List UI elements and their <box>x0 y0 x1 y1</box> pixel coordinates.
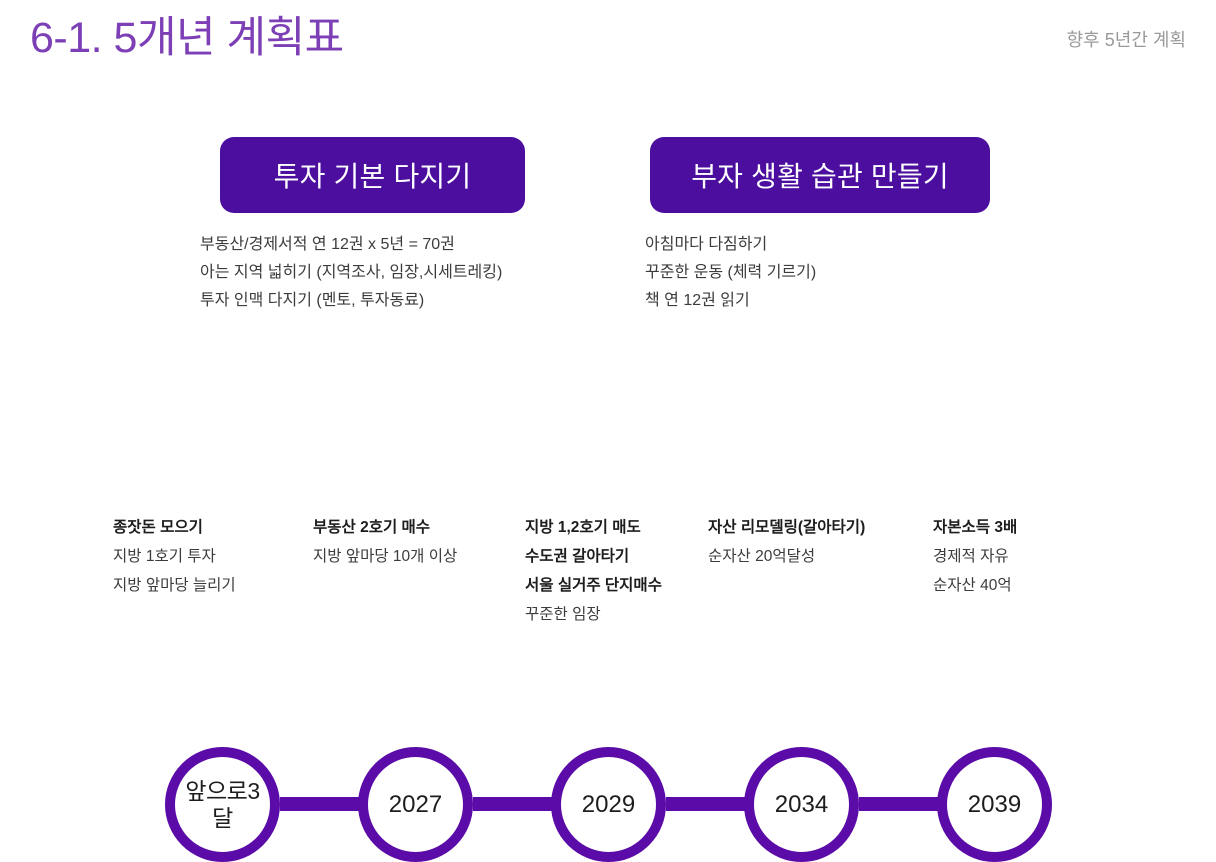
milestone-line: 지방 앞마당 10개 이상 <box>313 542 457 571</box>
slide-subtitle: 향후 5년간 계획 <box>1067 26 1186 52</box>
timeline-node-label: 앞으로3달 <box>181 778 265 832</box>
bullet-list-investment-basics: 부동산/경제서적 연 12권 x 5년 = 70권 아는 지역 넓히기 (지역조… <box>200 231 502 315</box>
bullet-item: 투자 인맥 다지기 (멘토, 투자동료) <box>200 287 502 315</box>
timeline-node-3[interactable]: 2029 <box>551 747 666 862</box>
timeline-node-2[interactable]: 2027 <box>358 747 473 862</box>
timeline-node-label: 2039 <box>953 792 1037 818</box>
timeline-node-label: 2029 <box>567 792 651 818</box>
bullet-item: 아침마다 다짐하기 <box>645 231 816 259</box>
bullet-item: 책 연 12권 읽기 <box>645 287 816 315</box>
milestone-line: 순자산 40억 <box>933 571 1017 600</box>
timeline-node-label: 2034 <box>760 792 844 818</box>
banner-label: 투자 기본 다지기 <box>274 155 472 195</box>
milestone-line: 수도권 갈아타기 <box>525 542 662 571</box>
milestone-line: 경제적 자유 <box>933 542 1017 571</box>
milestone-3: 지방 1,2호기 매도 수도권 갈아타기 서울 실거주 단지매수 꾸준한 임장 <box>525 513 662 629</box>
page-title: 6-1. 5개년 계획표 <box>30 14 344 63</box>
milestone-4: 자산 리모델링(갈아타기) 순자산 20억달성 <box>708 513 865 571</box>
milestone-2: 부동산 2호기 매수 지방 앞마당 10개 이상 <box>313 513 457 571</box>
milestone-line: 순자산 20억달성 <box>708 542 865 571</box>
banner-investment-basics: 투자 기본 다지기 <box>220 137 525 213</box>
timeline: 앞으로3달 2027 2029 2034 2039 <box>0 370 1216 505</box>
milestone-heading: 종잣돈 모으기 <box>113 513 236 542</box>
banner-label: 부자 생활 습관 만들기 <box>691 155 949 195</box>
milestone-5: 자본소득 3배 경제적 자유 순자산 40억 <box>933 513 1017 600</box>
bullet-item: 아는 지역 넓히기 (지역조사, 임장,시세트레킹) <box>200 259 502 287</box>
bullet-list-rich-habits: 아침마다 다짐하기 꾸준한 운동 (체력 기르기) 책 연 12권 읽기 <box>645 231 816 315</box>
bullet-item: 꾸준한 운동 (체력 기르기) <box>645 259 816 287</box>
milestone-heading: 부동산 2호기 매수 <box>313 513 457 542</box>
milestone-heading: 자본소득 3배 <box>933 513 1017 542</box>
timeline-node-label: 2027 <box>374 792 458 818</box>
timeline-node-4[interactable]: 2034 <box>744 747 859 862</box>
milestone-line: 지방 1호기 투자 <box>113 542 236 571</box>
milestone-heading: 자산 리모델링(갈아타기) <box>708 513 865 542</box>
milestone-line: 지방 앞마당 늘리기 <box>113 571 236 600</box>
timeline-node-1[interactable]: 앞으로3달 <box>165 747 280 862</box>
timeline-node-5[interactable]: 2039 <box>937 747 1052 862</box>
milestone-line: 서울 실거주 단지매수 <box>525 571 662 600</box>
milestone-heading: 지방 1,2호기 매도 <box>525 513 662 542</box>
milestone-1: 종잣돈 모으기 지방 1호기 투자 지방 앞마당 늘리기 <box>113 513 236 600</box>
banner-rich-habits: 부자 생활 습관 만들기 <box>650 137 990 213</box>
bullet-item: 부동산/경제서적 연 12권 x 5년 = 70권 <box>200 231 502 259</box>
milestone-line: 꾸준한 임장 <box>525 600 662 629</box>
